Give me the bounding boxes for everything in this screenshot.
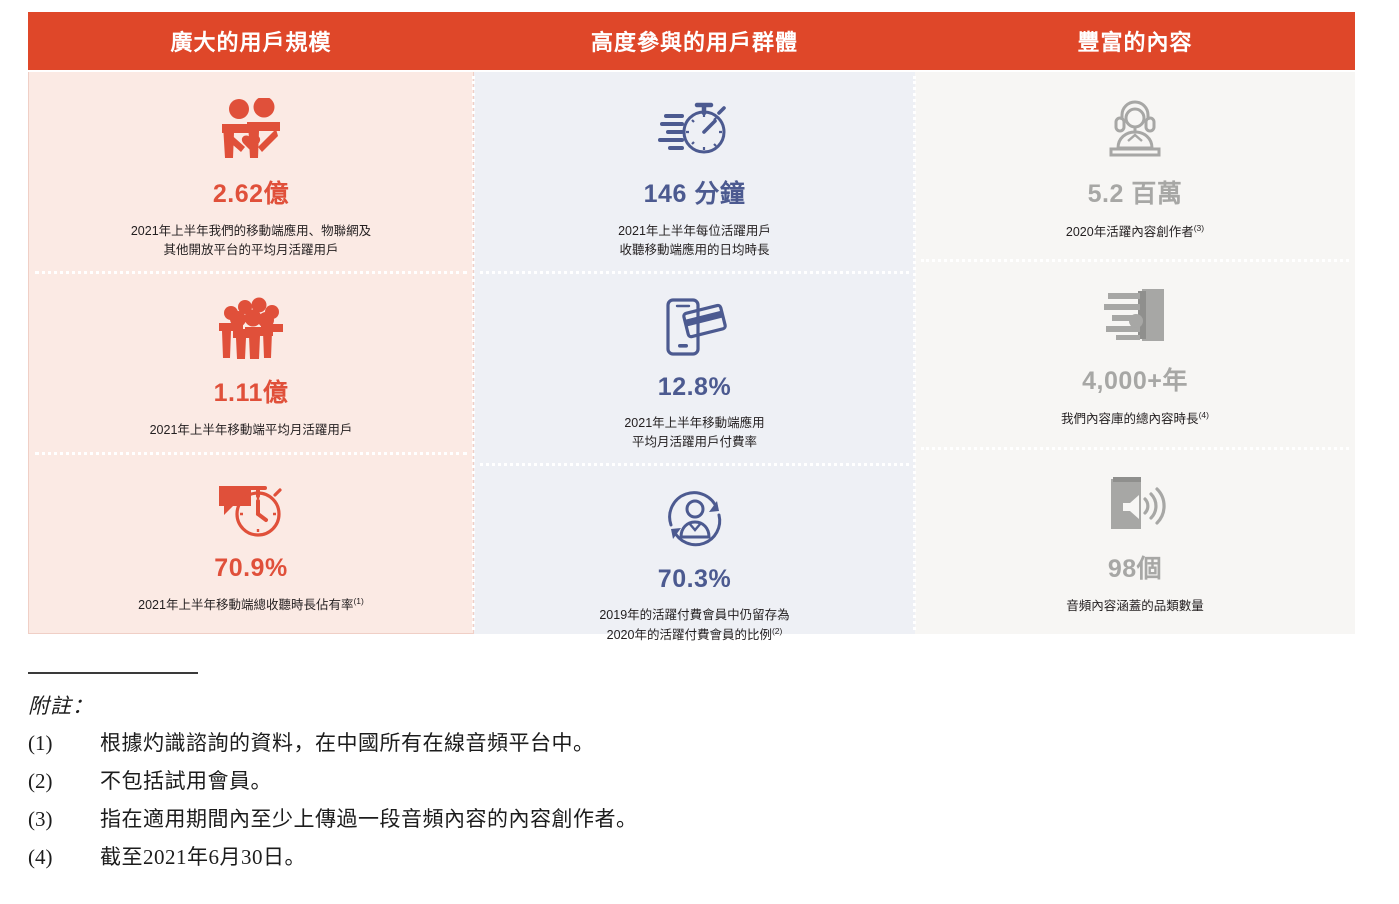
metric-cell-listening-share: 70.9% 2021年上半年移動端總收聽時長佔有率(1) xyxy=(29,452,473,633)
footnote-text: 指在適用期間內至少上傳過一段音頻內容的內容創作者。 xyxy=(100,806,1128,833)
caption-line: 收聽移動端應用的日均時長 xyxy=(618,241,771,260)
footnote-item: (1) 根據灼識諮詢的資料，在中國所有在線音頻平台中。 xyxy=(28,730,1128,757)
caption-line: 2021年上半年移動端總收聽時長佔有率(1) xyxy=(138,595,364,616)
audio-book-speaker-icon xyxy=(1101,465,1169,543)
metric-cell-categories: 98個 音頻內容涵蓋的品類數量 xyxy=(915,447,1355,634)
metric-caption: 2021年上半年我們的移動端應用、物聯網及 其他開放平台的平均月活躍用戶 xyxy=(131,222,371,261)
metric-value: 70.9% xyxy=(214,554,287,583)
footnotes-title: 附註： xyxy=(28,690,1128,720)
header-label-user-scale: 廣大的用戶規模 xyxy=(170,25,331,57)
metric-caption: 音頻內容涵蓋的品類數量 xyxy=(1066,597,1204,616)
caption-line: 2021年上半年我們的移動端應用、物聯網及 xyxy=(131,222,371,241)
caption-line: 2019年的活躍付費會員中仍留存為 xyxy=(599,606,789,625)
metric-cell-content-hours: 4,000+年 我們內容庫的總內容時長(4) xyxy=(915,259,1355,446)
footnote-ref: (4) xyxy=(1199,410,1209,420)
footnote-item: (4) 截至2021年6月30日。 xyxy=(28,844,1128,871)
metric-cell-mau-total: 2.62億 2021年上半年我們的移動端應用、物聯網及 其他開放平台的平均月活躍… xyxy=(29,72,473,271)
speech-bubble-stopwatch-icon xyxy=(213,470,289,548)
footnote-ref: (3) xyxy=(1194,223,1204,233)
metrics-column-user-scale: 2.62億 2021年上半年我們的移動端應用、物聯網及 其他開放平台的平均月活躍… xyxy=(28,72,474,634)
metric-caption: 2021年上半年移動端平均月活躍用戶 xyxy=(150,421,353,440)
metric-value: 5.2 百萬 xyxy=(1088,174,1183,210)
footnote-ref: (2) xyxy=(772,626,782,636)
crowd-of-people-icon xyxy=(215,289,287,367)
column-header-bar: 廣大的用戶規模 高度參與的用戶群體 豐富的內容 xyxy=(28,12,1355,70)
header-cell-user-scale: 廣大的用戶規模 xyxy=(28,12,474,70)
metric-caption: 2021年上半年移動端總收聽時長佔有率(1) xyxy=(138,595,364,616)
header-label-content: 豐富的內容 xyxy=(1077,25,1192,57)
stopwatch-motion-icon xyxy=(658,90,732,168)
metric-value: 98個 xyxy=(1108,549,1162,585)
header-cell-engagement: 高度參與的用戶群體 xyxy=(474,12,915,70)
footnote-text: 根據灼識諮詢的資料，在中國所有在線音頻平台中。 xyxy=(100,730,1128,757)
footnote-item: (3) 指在適用期間內至少上傳過一段音頻內容的內容創作者。 xyxy=(28,806,1128,833)
footnote-item: (2) 不包括試用會員。 xyxy=(28,768,1128,795)
content-archive-icon xyxy=(1100,277,1170,355)
footnote-number: (2) xyxy=(28,768,100,795)
metric-caption: 2021年上半年移動端應用 平均月活躍用戶付費率 xyxy=(624,414,764,453)
metric-caption: 我們內容庫的總內容時長(4) xyxy=(1061,409,1209,430)
caption-line: 音頻內容涵蓋的品類數量 xyxy=(1066,597,1204,616)
metric-cell-mobile-mau: 1.11億 2021年上半年移動端平均月活躍用戶 xyxy=(29,271,473,452)
header-cell-content: 豐富的內容 xyxy=(915,12,1355,70)
phone-credit-card-icon xyxy=(660,289,730,367)
footnote-number: (4) xyxy=(28,844,100,871)
header-label-engagement: 高度參與的用戶群體 xyxy=(591,25,798,57)
caption-text: 2020年的活躍付費會員的比例 xyxy=(607,628,772,642)
metric-value: 70.3% xyxy=(658,565,731,594)
metric-value: 146 分鐘 xyxy=(644,174,746,210)
metric-caption: 2021年上半年每位活躍用戶 收聽移動端應用的日均時長 xyxy=(618,222,771,261)
metrics-column-content: 5.2 百萬 2020年活躍內容創作者(3) xyxy=(915,72,1355,634)
caption-line: 2021年上半年移動端平均月活躍用戶 xyxy=(150,421,353,440)
caption-line: 2020年活躍內容創作者(3) xyxy=(1066,222,1204,243)
footnote-number: (1) xyxy=(28,730,100,757)
footnotes-section: 附註： (1) 根據灼識諮詢的資料，在中國所有在線音頻平台中。 (2) 不包括試… xyxy=(28,672,1128,882)
metrics-column-engagement: 146 分鐘 2021年上半年每位活躍用戶 收聽移動端應用的日均時長 xyxy=(474,72,915,634)
caption-text: 2020年活躍內容創作者 xyxy=(1066,225,1194,239)
footnote-number: (3) xyxy=(28,806,100,833)
caption-line: 2020年的活躍付費會員的比例(2) xyxy=(599,625,789,646)
metric-caption: 2019年的活躍付費會員中仍留存為 2020年的活躍付費會員的比例(2) xyxy=(599,606,789,646)
metric-cell-daily-minutes: 146 分鐘 2021年上半年每位活躍用戶 收聽移動端應用的日均時長 xyxy=(474,72,915,271)
metric-cell-retention: 70.3% 2019年的活躍付費會員中仍留存為 2020年的活躍付費會員的比例(… xyxy=(474,463,915,656)
metric-value: 2.62億 xyxy=(213,174,289,210)
caption-line: 我們內容庫的總內容時長(4) xyxy=(1061,409,1209,430)
metric-cell-paying-ratio: 12.8% 2021年上半年移動端應用 平均月活躍用戶付費率 xyxy=(474,271,915,463)
metric-cell-creators: 5.2 百萬 2020年活躍內容創作者(3) xyxy=(915,72,1355,259)
footnote-text: 截至2021年6月30日。 xyxy=(100,844,1128,871)
metric-caption: 2020年活躍內容創作者(3) xyxy=(1066,222,1204,243)
two-people-icon xyxy=(214,90,288,168)
caption-line: 其他開放平台的平均月活躍用戶 xyxy=(131,241,371,260)
caption-text: 我們內容庫的總內容時長 xyxy=(1061,412,1199,426)
headphone-creator-icon xyxy=(1100,90,1170,168)
metrics-grid: 2.62億 2021年上半年我們的移動端應用、物聯網及 其他開放平台的平均月活躍… xyxy=(28,72,1355,634)
metric-value: 4,000+年 xyxy=(1082,361,1188,397)
caption-line: 2021年上半年每位活躍用戶 xyxy=(618,222,771,241)
caption-line: 2021年上半年移動端應用 xyxy=(624,414,764,433)
user-retention-cycle-icon xyxy=(659,481,731,559)
metric-value: 12.8% xyxy=(658,373,731,402)
caption-line: 平均月活躍用戶付費率 xyxy=(624,433,764,452)
metric-value: 1.11億 xyxy=(214,373,289,409)
infographic-page: 廣大的用戶規模 高度參與的用戶群體 豐富的內容 xyxy=(0,0,1399,904)
caption-text: 2021年上半年移動端總收聽時長佔有率 xyxy=(138,598,353,612)
footnote-text: 不包括試用會員。 xyxy=(100,768,1128,795)
footnotes-divider xyxy=(28,672,198,674)
footnote-ref: (1) xyxy=(353,596,363,606)
